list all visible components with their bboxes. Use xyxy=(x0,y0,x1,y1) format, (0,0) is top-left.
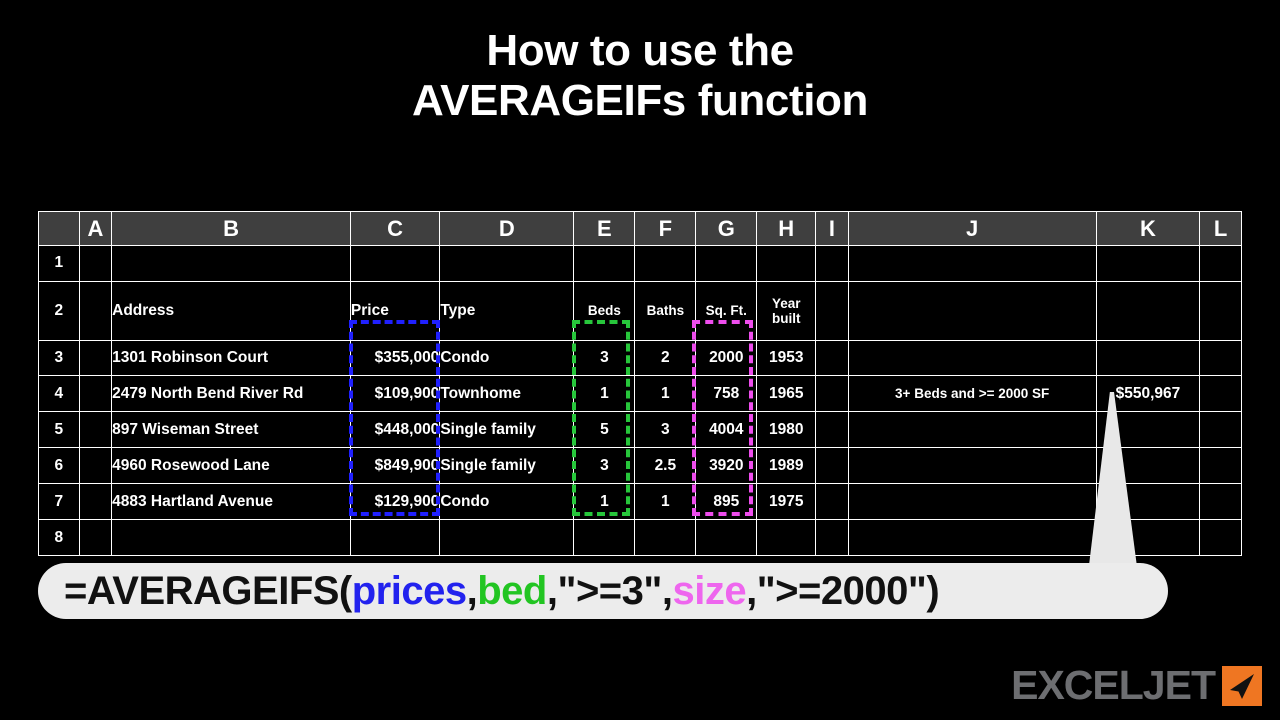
grid-corner[interactable] xyxy=(39,212,80,246)
cell-e4-beds[interactable]: 1 xyxy=(574,376,635,412)
column-header-a[interactable]: A xyxy=(79,212,112,246)
cell-f2-baths-header[interactable]: Baths xyxy=(635,281,696,340)
cell-f8[interactable] xyxy=(635,520,696,556)
cell-g7-sqft[interactable]: 895 xyxy=(696,484,757,520)
cell-l8[interactable] xyxy=(1200,520,1242,556)
cell-h7-year[interactable]: 1975 xyxy=(757,484,816,520)
cell-h3-year[interactable]: 1953 xyxy=(757,340,816,376)
column-header-h[interactable]: H xyxy=(757,212,816,246)
cell-e7-beds[interactable]: 1 xyxy=(574,484,635,520)
cell-l7[interactable] xyxy=(1200,484,1242,520)
cell-e1[interactable] xyxy=(574,246,635,282)
cell-g8[interactable] xyxy=(696,520,757,556)
formula-criteria-1: ,">=3", xyxy=(547,569,673,614)
spreadsheet[interactable]: A B C D E F G H I J K L 1 xyxy=(38,211,1242,556)
cell-e2-beds-header[interactable]: Beds xyxy=(574,281,635,340)
formula-separator-1: , xyxy=(467,569,478,614)
cell-e5-beds[interactable]: 5 xyxy=(574,412,635,448)
cell-g6-sqft[interactable]: 3920 xyxy=(696,448,757,484)
table-row: 2 Address Price Type Beds Baths Sq. Ft. … xyxy=(39,281,1242,340)
cell-i1[interactable] xyxy=(816,246,849,282)
cell-a7[interactable] xyxy=(79,484,112,520)
column-header-g[interactable]: G xyxy=(696,212,757,246)
cell-f5-baths[interactable]: 3 xyxy=(635,412,696,448)
cell-b4-address[interactable]: 2479 North Bend River Rd xyxy=(112,376,351,412)
cell-j4-criteria-label[interactable]: 3+ Beds and >= 2000 SF xyxy=(848,376,1096,412)
row-header-6[interactable]: 6 xyxy=(39,448,80,484)
cell-a1[interactable] xyxy=(79,246,112,282)
row-header-7[interactable]: 7 xyxy=(39,484,80,520)
column-header-b[interactable]: B xyxy=(112,212,351,246)
cell-b5-address[interactable]: 897 Wiseman Street xyxy=(112,412,351,448)
cell-i6[interactable] xyxy=(816,448,849,484)
cell-b2-address-header[interactable]: Address xyxy=(112,281,351,340)
cell-f4-baths[interactable]: 1 xyxy=(635,376,696,412)
cell-j7[interactable] xyxy=(848,484,1096,520)
cell-c3-price[interactable]: $355,000 xyxy=(350,340,439,376)
row-header-5[interactable]: 5 xyxy=(39,412,80,448)
cell-h6-year[interactable]: 1989 xyxy=(757,448,816,484)
column-header-j[interactable]: J xyxy=(848,212,1096,246)
cell-i3[interactable] xyxy=(816,340,849,376)
column-header-k[interactable]: K xyxy=(1096,212,1200,246)
cell-i5[interactable] xyxy=(816,412,849,448)
title-line-1: How to use the xyxy=(486,26,793,75)
cell-a3[interactable] xyxy=(79,340,112,376)
cell-l6[interactable] xyxy=(1200,448,1242,484)
column-header-c[interactable]: C xyxy=(350,212,439,246)
cell-h5-year[interactable]: 1980 xyxy=(757,412,816,448)
cell-d8[interactable] xyxy=(440,520,574,556)
cell-g1[interactable] xyxy=(696,246,757,282)
cell-b3-address[interactable]: 1301 Robinson Court xyxy=(112,340,351,376)
cell-l1[interactable] xyxy=(1200,246,1242,282)
cell-b6-address[interactable]: 4960 Rosewood Lane xyxy=(112,448,351,484)
cell-j8[interactable] xyxy=(848,520,1096,556)
cell-b1[interactable] xyxy=(112,246,351,282)
formula-display[interactable]: =AVERAGEIFS(prices,bed,">=3",size,">=200… xyxy=(38,563,1168,619)
formula-arg-bed: bed xyxy=(477,569,547,614)
formula-arg-size: size xyxy=(672,569,746,614)
cell-j6[interactable] xyxy=(848,448,1096,484)
cell-a8[interactable] xyxy=(79,520,112,556)
cell-l5[interactable] xyxy=(1200,412,1242,448)
column-header-i[interactable]: I xyxy=(816,212,849,246)
cell-h2-year-header[interactable]: Year built xyxy=(757,281,816,340)
row-header-2[interactable]: 2 xyxy=(39,281,80,340)
cell-c4-price[interactable]: $109,900 xyxy=(350,376,439,412)
cell-g3-sqft[interactable]: 2000 xyxy=(696,340,757,376)
cell-h8[interactable] xyxy=(757,520,816,556)
cell-j1[interactable] xyxy=(848,246,1096,282)
spreadsheet-grid: A B C D E F G H I J K L 1 xyxy=(38,211,1242,556)
cell-d7-type[interactable]: Condo xyxy=(440,484,574,520)
cell-c1[interactable] xyxy=(350,246,439,282)
cell-c5-price[interactable]: $448,000 xyxy=(350,412,439,448)
cell-d1[interactable] xyxy=(440,246,574,282)
column-header-f[interactable]: F xyxy=(635,212,696,246)
cell-e6-beds[interactable]: 3 xyxy=(574,448,635,484)
cell-a5[interactable] xyxy=(79,412,112,448)
page-title: How to use the AVERAGEIFs function xyxy=(0,26,1280,126)
cell-j5[interactable] xyxy=(848,412,1096,448)
cell-k2[interactable] xyxy=(1096,281,1200,340)
cell-c2-price-header[interactable]: Price xyxy=(350,281,439,340)
cell-l2[interactable] xyxy=(1200,281,1242,340)
cell-i8[interactable] xyxy=(816,520,849,556)
formula-arg-prices: prices xyxy=(352,569,467,614)
cell-a6[interactable] xyxy=(79,448,112,484)
cell-d3-type[interactable]: Condo xyxy=(440,340,574,376)
cell-g4-sqft[interactable]: 758 xyxy=(696,376,757,412)
title-line-2: AVERAGEIFs function xyxy=(0,76,1280,126)
formula-criteria-2: ,">=2000") xyxy=(746,569,939,614)
cell-h1[interactable] xyxy=(757,246,816,282)
table-row: 7 4883 Hartland Avenue $129,900 Condo 1 … xyxy=(39,484,1242,520)
cell-i7[interactable] xyxy=(816,484,849,520)
cell-k1[interactable] xyxy=(1096,246,1200,282)
table-row: 3 1301 Robinson Court $355,000 Condo 3 2… xyxy=(39,340,1242,376)
cell-d4-type[interactable]: Townhome xyxy=(440,376,574,412)
cell-a4[interactable] xyxy=(79,376,112,412)
cell-a2[interactable] xyxy=(79,281,112,340)
cell-d2-type-header[interactable]: Type xyxy=(440,281,574,340)
table-row: 1 xyxy=(39,246,1242,282)
slide-canvas: How to use the AVERAGEIFs function A B C… xyxy=(0,0,1280,720)
cell-g2-sqft-header[interactable]: Sq. Ft. xyxy=(696,281,757,340)
cell-b7-address[interactable]: 4883 Hartland Avenue xyxy=(112,484,351,520)
exceljet-logo: EXCELJET xyxy=(1011,665,1262,706)
cell-c7-price[interactable]: $129,900 xyxy=(350,484,439,520)
column-header-row: A B C D E F G H I J K L xyxy=(39,212,1242,246)
row-header-4[interactable]: 4 xyxy=(39,376,80,412)
table-row: 6 4960 Rosewood Lane $849,900 Single fam… xyxy=(39,448,1242,484)
column-header-l[interactable]: L xyxy=(1200,212,1242,246)
exceljet-arrow-icon xyxy=(1222,666,1262,706)
table-row: 8 xyxy=(39,520,1242,556)
logo-wordmark: EXCELJET xyxy=(1011,665,1215,706)
cell-c8[interactable] xyxy=(350,520,439,556)
column-header-d[interactable]: D xyxy=(440,212,574,246)
cell-i4[interactable] xyxy=(816,376,849,412)
cell-l4[interactable] xyxy=(1200,376,1242,412)
cell-g5-sqft[interactable]: 4004 xyxy=(696,412,757,448)
table-row: 4 2479 North Bend River Rd $109,900 Town… xyxy=(39,376,1242,412)
cell-e8[interactable] xyxy=(574,520,635,556)
cell-d5-type[interactable]: Single family xyxy=(440,412,574,448)
cell-i2[interactable] xyxy=(816,281,849,340)
cell-f6-baths[interactable]: 2.5 xyxy=(635,448,696,484)
row-header-3[interactable]: 3 xyxy=(39,340,80,376)
row-header-1[interactable]: 1 xyxy=(39,246,80,282)
cell-f7-baths[interactable]: 1 xyxy=(635,484,696,520)
cell-j2[interactable] xyxy=(848,281,1096,340)
cell-h4-year[interactable]: 1965 xyxy=(757,376,816,412)
cell-b8[interactable] xyxy=(112,520,351,556)
cell-f1[interactable] xyxy=(635,246,696,282)
row-header-8[interactable]: 8 xyxy=(39,520,80,556)
table-row: 5 897 Wiseman Street $448,000 Single fam… xyxy=(39,412,1242,448)
cell-j3[interactable] xyxy=(848,340,1096,376)
cell-e3-beds[interactable]: 3 xyxy=(574,340,635,376)
cell-f3-baths[interactable]: 2 xyxy=(635,340,696,376)
cell-c6-price[interactable]: $849,900 xyxy=(350,448,439,484)
cell-d6-type[interactable]: Single family xyxy=(440,448,574,484)
cell-l3[interactable] xyxy=(1200,340,1242,376)
cell-k3[interactable] xyxy=(1096,340,1200,376)
formula-function-name: =AVERAGEIFS( xyxy=(64,569,352,614)
column-header-e[interactable]: E xyxy=(574,212,635,246)
